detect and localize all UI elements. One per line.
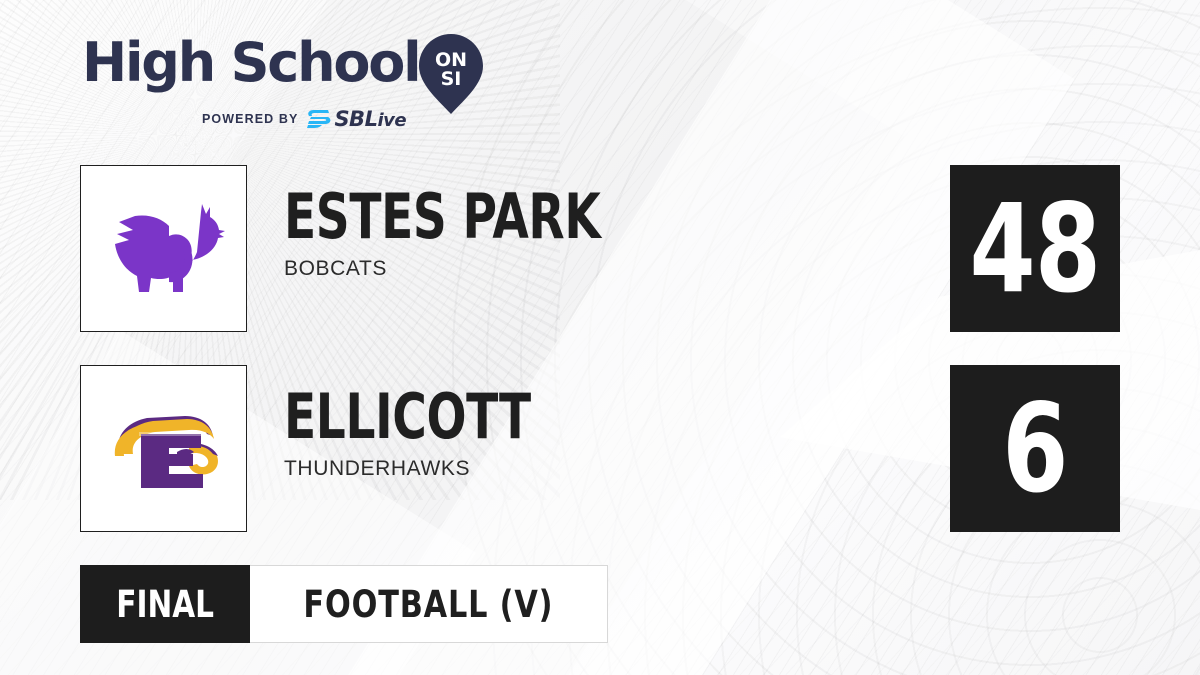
bobcat-head-icon bbox=[89, 174, 239, 324]
sblive-wordmark: SBLive bbox=[334, 109, 406, 130]
team-info: ELLICOTT THUNDERHAWKS bbox=[284, 387, 904, 481]
team-mascot: THUNDERHAWKS bbox=[284, 457, 904, 481]
team-row: ELLICOTT THUNDERHAWKS 6 bbox=[80, 365, 1120, 535]
brand-header: High School ON SI POWERED BY SBLive bbox=[82, 36, 512, 136]
powered-by-lockup: POWERED BY SBLive bbox=[202, 108, 406, 130]
team-info: ESTES PARK BOBCATS bbox=[284, 187, 904, 281]
team-mascot: BOBCATS bbox=[284, 257, 904, 281]
sblive-logo: SBLive bbox=[306, 108, 406, 130]
team-name: ESTES PARK bbox=[284, 187, 755, 247]
team-logo-box bbox=[80, 165, 247, 332]
team-score-box: 6 bbox=[950, 365, 1120, 532]
team-logo-box bbox=[80, 365, 247, 532]
team-row: ESTES PARK BOBCATS 48 bbox=[80, 165, 1120, 335]
on-si-pin-icon: ON SI bbox=[418, 32, 484, 116]
team-score-box: 48 bbox=[950, 165, 1120, 332]
game-state-label: FINAL bbox=[116, 583, 214, 626]
team-score: 48 bbox=[970, 188, 1101, 310]
team-score: 6 bbox=[1002, 388, 1067, 510]
thunderhawk-e-icon bbox=[89, 374, 239, 524]
sport-badge: FOOTBALL (V) bbox=[250, 565, 608, 643]
sport-label: FOOTBALL (V) bbox=[304, 583, 554, 626]
on-si-badge-line2: SI bbox=[441, 68, 462, 90]
sblive-s-icon bbox=[306, 108, 332, 130]
powered-by-label: POWERED BY bbox=[202, 112, 298, 126]
scoreboard-graphic: High School ON SI POWERED BY SBLive bbox=[0, 0, 1200, 675]
status-bar: FINAL FOOTBALL (V) bbox=[80, 565, 608, 643]
team-name: ELLICOTT bbox=[284, 387, 755, 447]
game-state-badge: FINAL bbox=[80, 565, 250, 643]
